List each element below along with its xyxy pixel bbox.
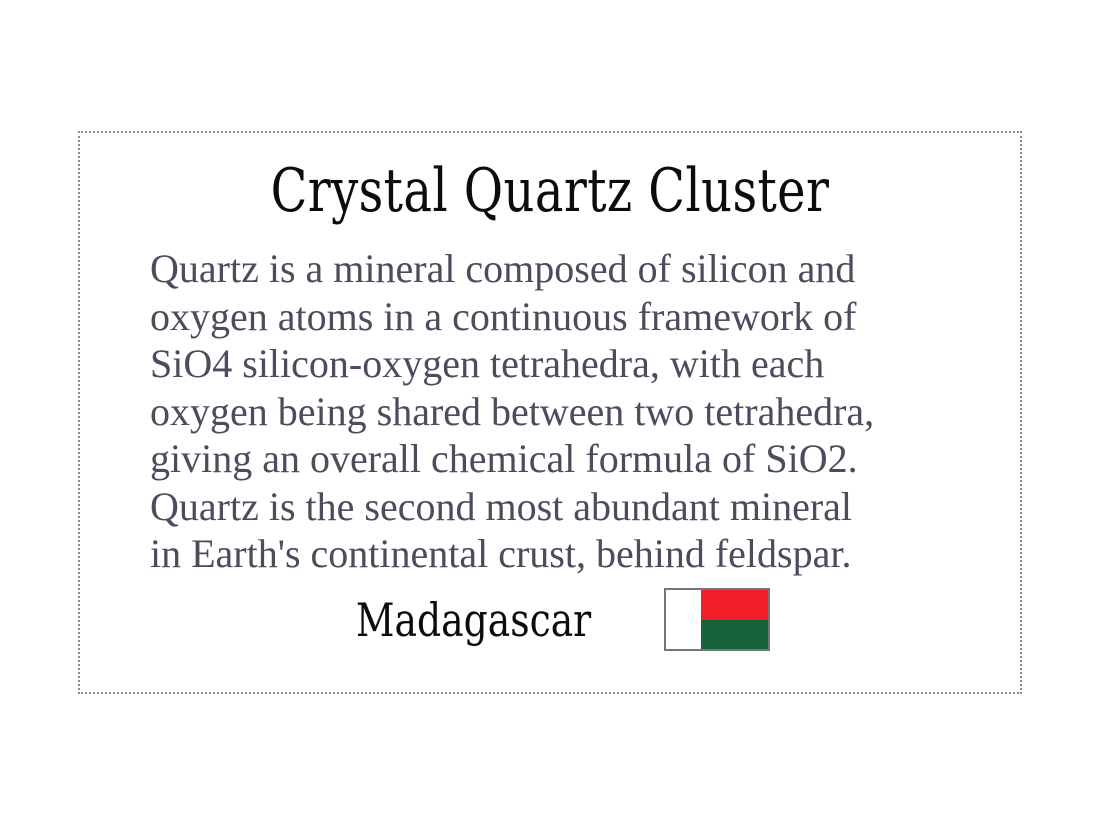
flag-band-red: [701, 590, 768, 620]
flag-band-green: [701, 620, 768, 650]
page-title: Crystal Quartz Cluster: [174, 161, 926, 221]
flag-band-stack: [701, 590, 768, 649]
specimen-label-card: Crystal Quartz Cluster Quartz is a miner…: [78, 131, 1022, 694]
origin-row: Madagascar: [80, 588, 1020, 651]
specimen-description: Quartz is a mineral composed of silicon …: [150, 245, 950, 578]
madagascar-flag-icon: [664, 588, 770, 651]
description-block: Quartz is a mineral composed of silicon …: [80, 245, 1020, 578]
flag-band-white: [666, 590, 701, 649]
origin-country-label: Madagascar: [356, 597, 591, 643]
page-canvas: Crystal Quartz Cluster Quartz is a miner…: [0, 0, 1100, 825]
